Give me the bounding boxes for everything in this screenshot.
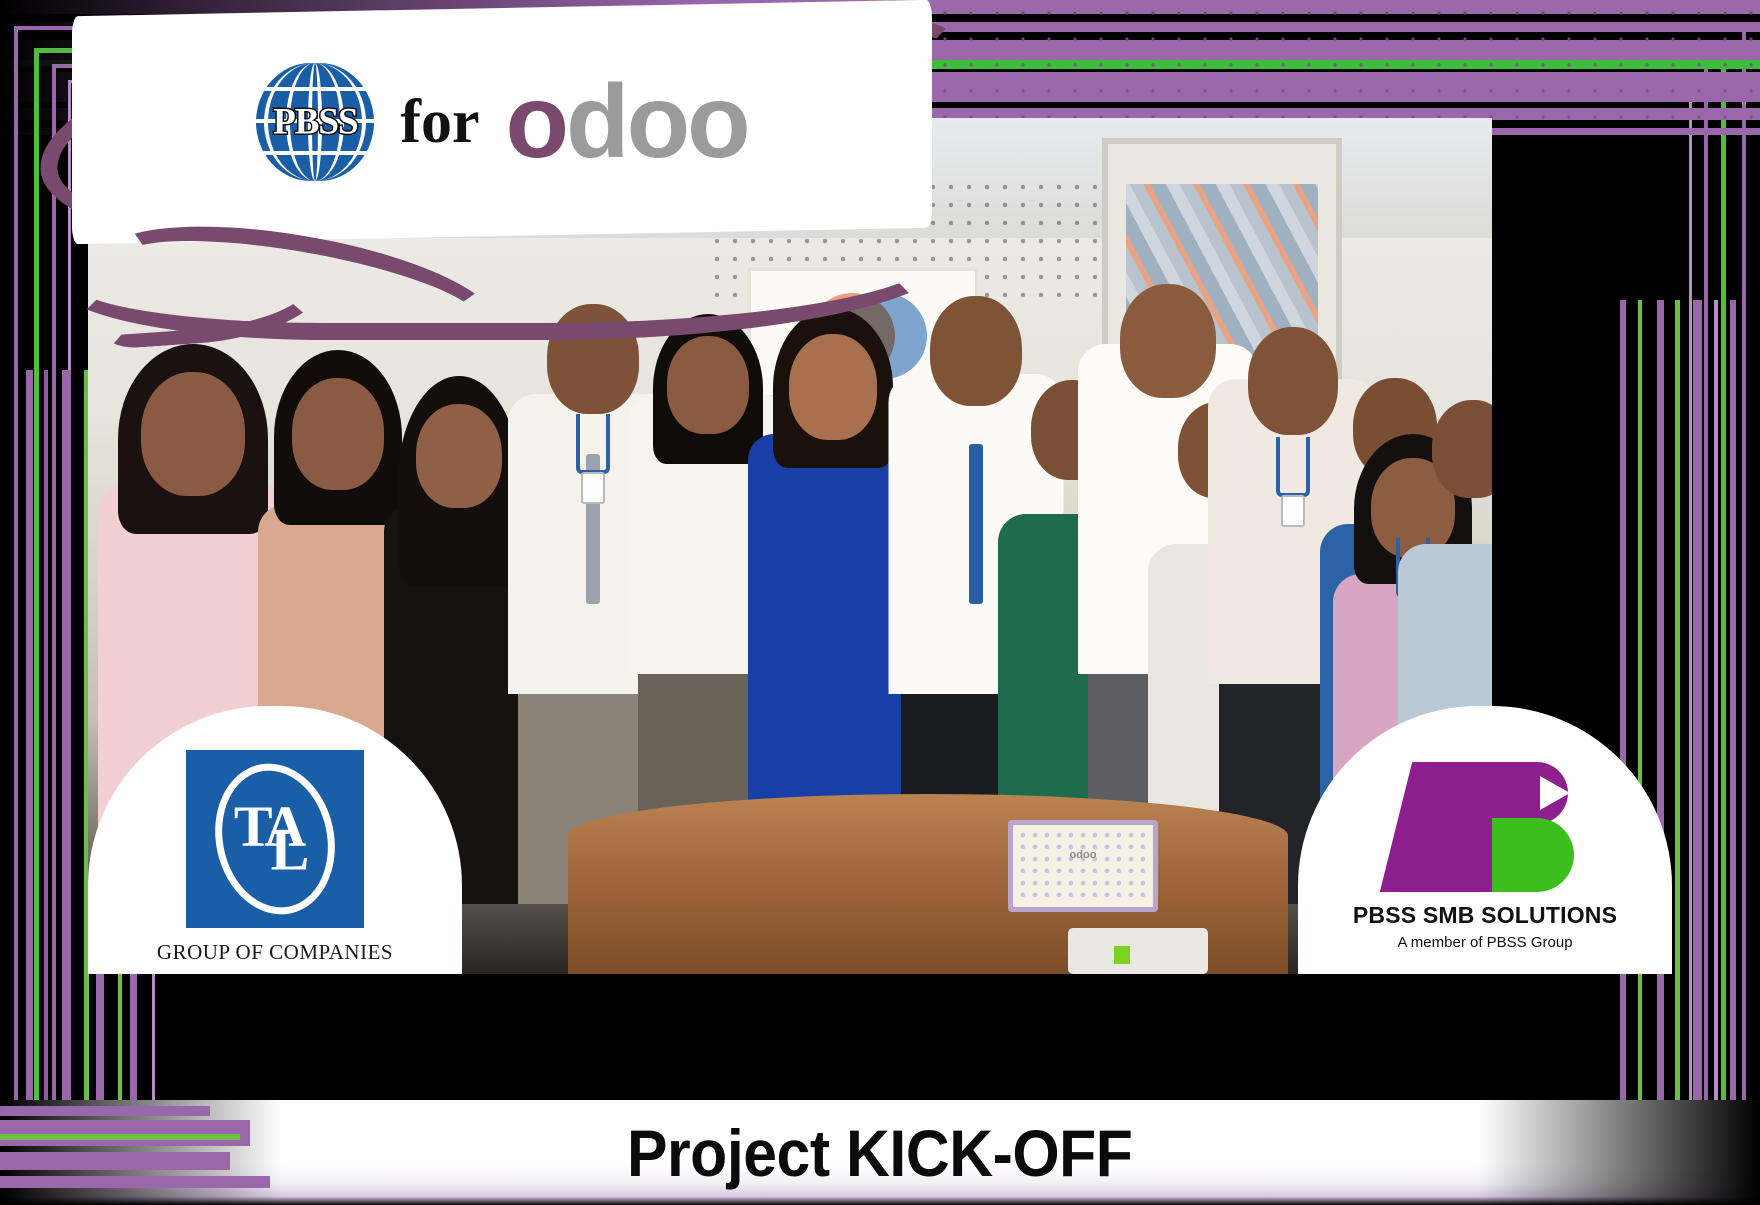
page-title: Project KICK-OFF	[627, 1115, 1132, 1191]
title-banner-strips	[0, 1100, 280, 1205]
odoo-remaining-letters: doo	[566, 64, 748, 180]
poster-canvas: odoo PBSS for odoo	[0, 0, 1760, 1205]
odoo-first-o: o	[506, 64, 567, 180]
pbss-globe-icon: PBSS	[256, 63, 374, 181]
id-badge	[581, 472, 605, 504]
badge-lanyard	[576, 414, 610, 474]
odoo-wordmark: odoo	[506, 70, 748, 174]
cake-odoo-text: odoo	[1013, 849, 1153, 861]
right-strip-cluster	[1592, 300, 1742, 1165]
connector-for-label: for	[400, 91, 479, 153]
id-badge-2	[1281, 495, 1305, 527]
header-banner: PBSS for odoo	[72, 0, 932, 244]
photo-desk-phone	[1068, 928, 1208, 974]
tal-logo-icon: TA L	[186, 750, 364, 928]
pbss-smb-subtitle: A member of PBSS Group	[1298, 934, 1672, 951]
pbss-smb-logo-icon	[1390, 762, 1580, 892]
tal-logo-caption: GROUP OF COMPANIES	[88, 940, 462, 965]
pbss-globe-label: PBSS	[256, 101, 374, 144]
badge-lanyard-2	[1276, 437, 1310, 497]
photo-kickoff-cake: odoo	[1008, 820, 1158, 912]
pbss-smb-title: PBSS SMB SOLUTIONS	[1298, 902, 1672, 929]
title-banner: Project KICK-OFF	[0, 1100, 1760, 1205]
